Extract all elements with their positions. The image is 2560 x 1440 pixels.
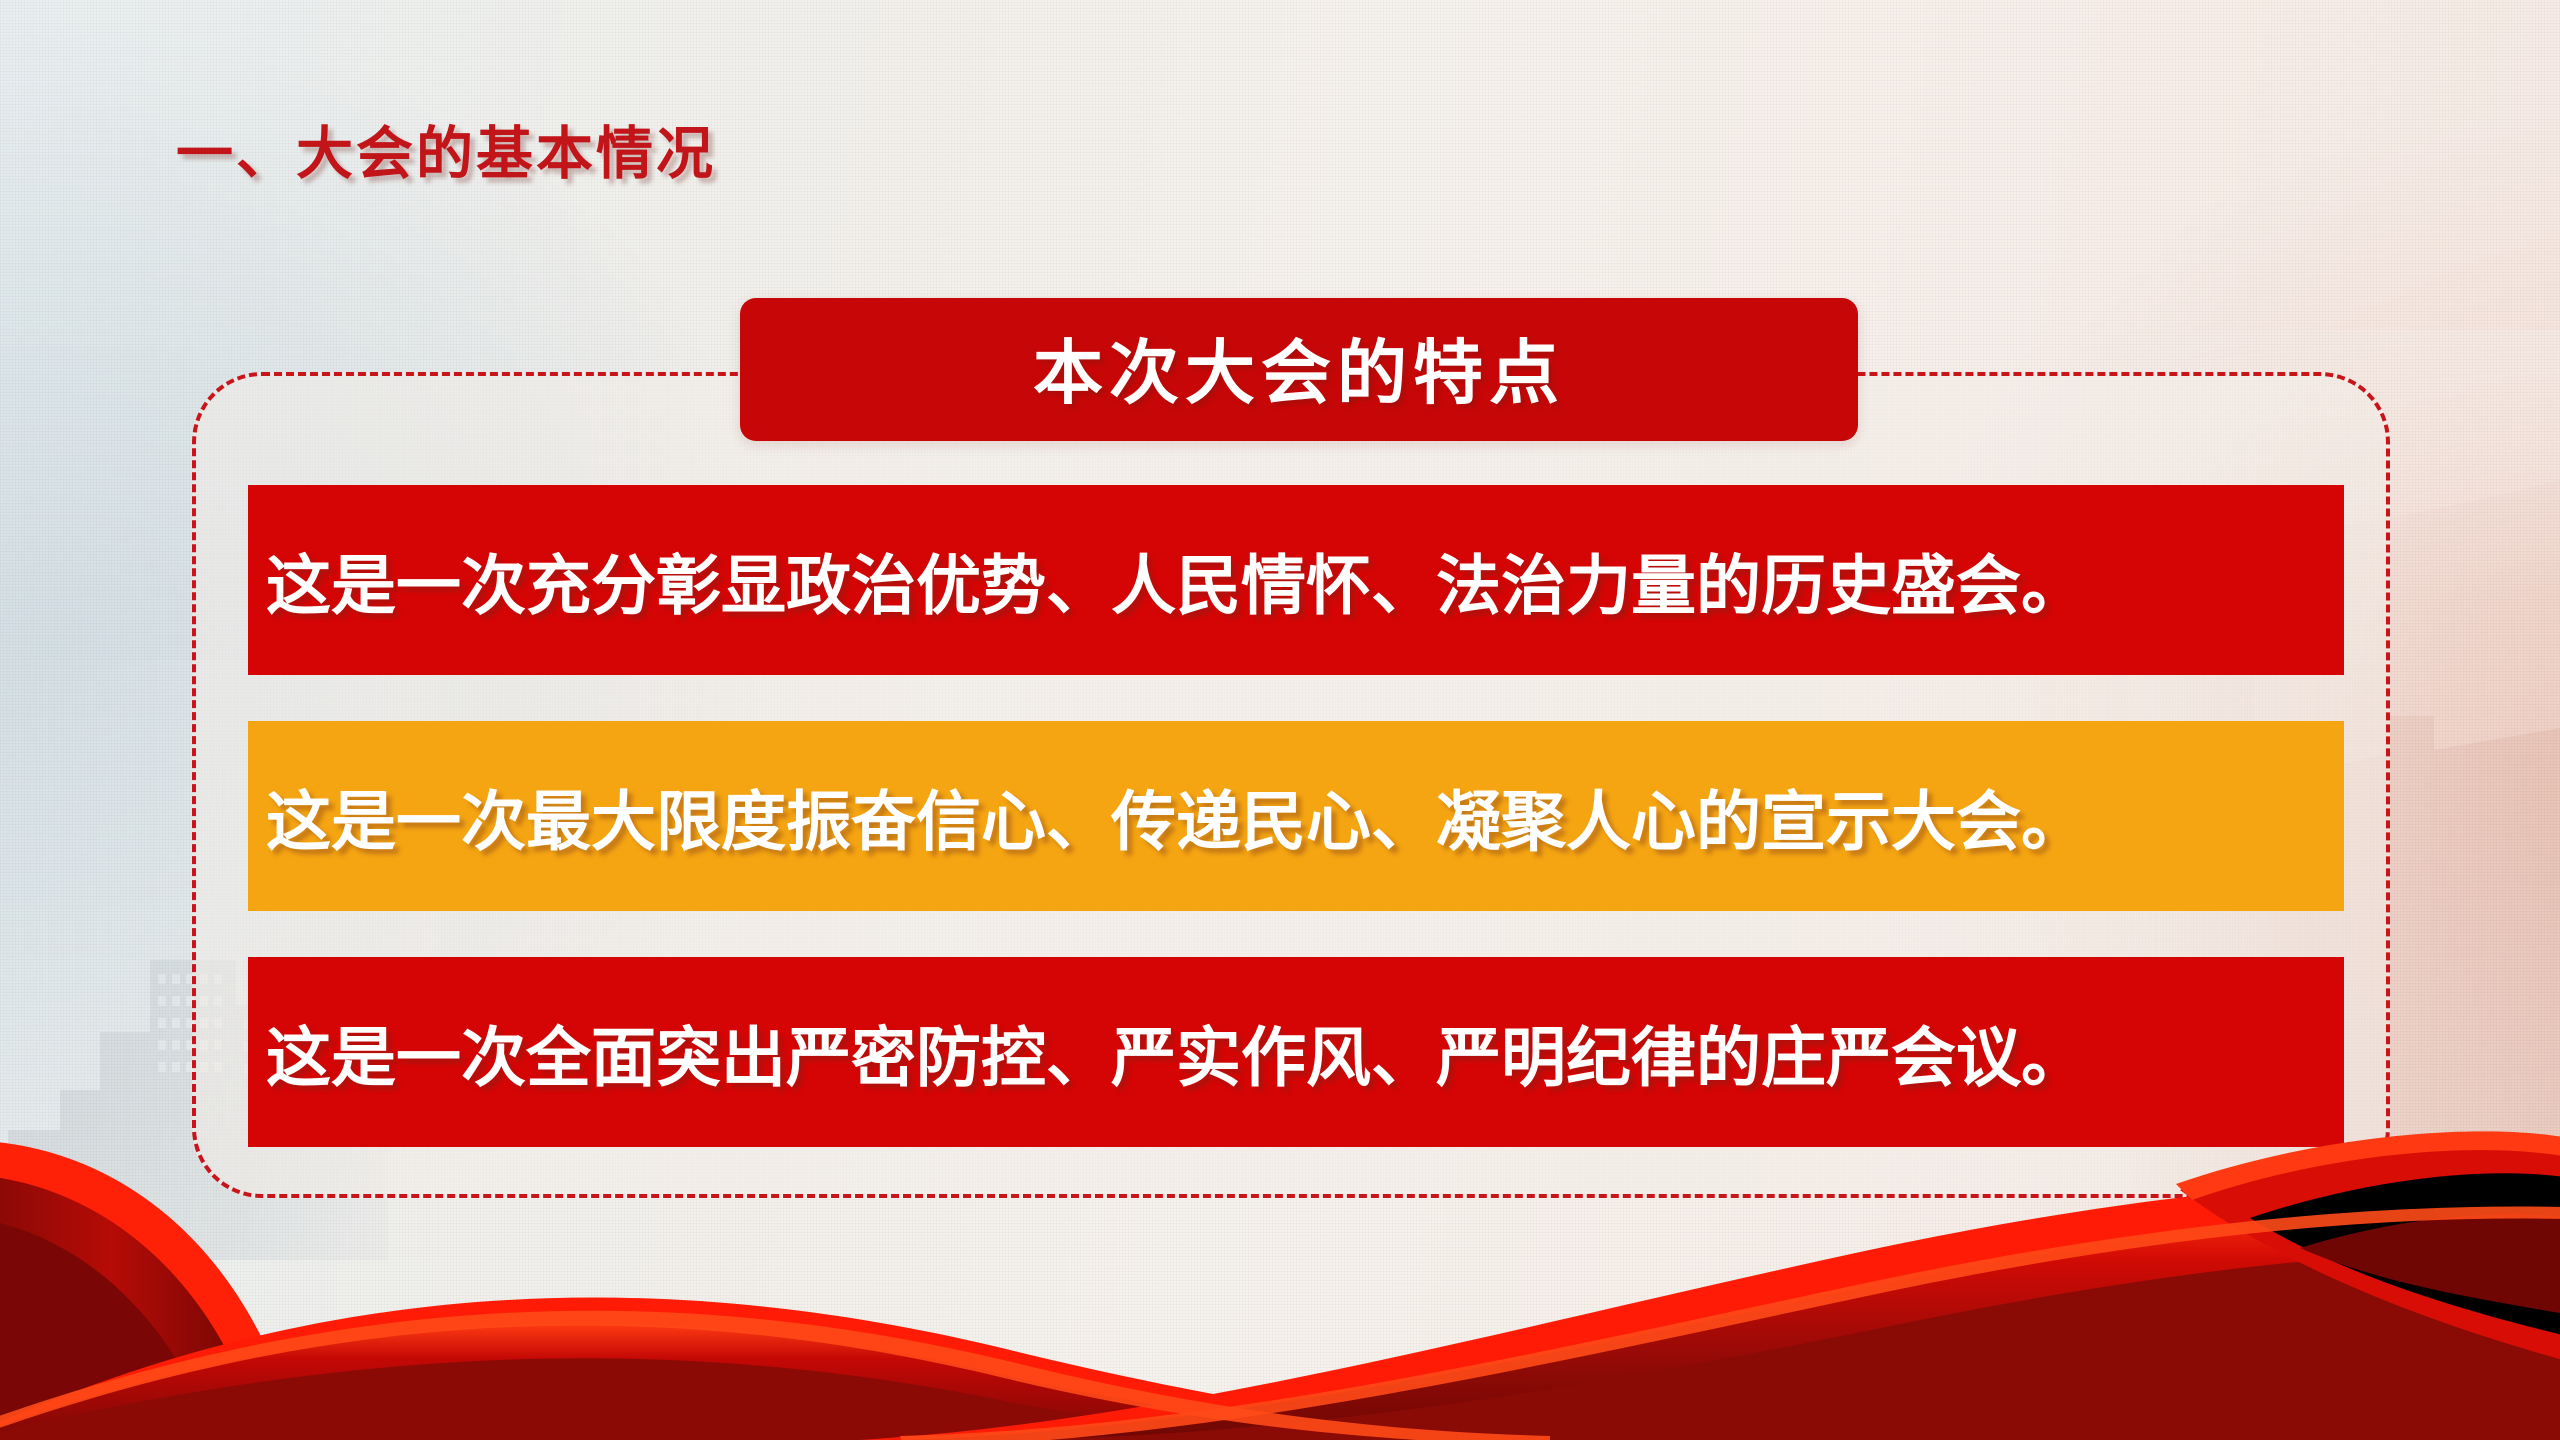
page-title: 一、大会的基本情况 <box>176 108 716 190</box>
statement-list: 这是一次充分彰显政治优势、人民情怀、法治力量的历史盛会。 这是一次最大限度振奋信… <box>248 485 2344 1147</box>
section-title-badge-label: 本次大会的特点 <box>1033 317 1565 418</box>
section-title-badge: 本次大会的特点 <box>740 298 1858 441</box>
statement-text-3: 这是一次全面突出严密防控、严实作风、严明纪律的庄严会议。 <box>248 1005 2086 1099</box>
statement-text-2: 这是一次最大限度振奋信心、传递民心、凝聚人心的宣示大会。 <box>248 769 2086 863</box>
statement-bar-1: 这是一次充分彰显政治优势、人民情怀、法治力量的历史盛会。 <box>248 485 2344 675</box>
slide-canvas: 一、大会的基本情况 本次大会的特点 这是一次充分彰显政治优势、人民情怀、法治力量… <box>0 0 2560 1440</box>
statement-bar-2: 这是一次最大限度振奋信心、传递民心、凝聚人心的宣示大会。 <box>248 721 2344 911</box>
statement-bar-3: 这是一次全面突出严密防控、严实作风、严明纪律的庄严会议。 <box>248 957 2344 1147</box>
statement-text-1: 这是一次充分彰显政治优势、人民情怀、法治力量的历史盛会。 <box>248 533 2086 627</box>
